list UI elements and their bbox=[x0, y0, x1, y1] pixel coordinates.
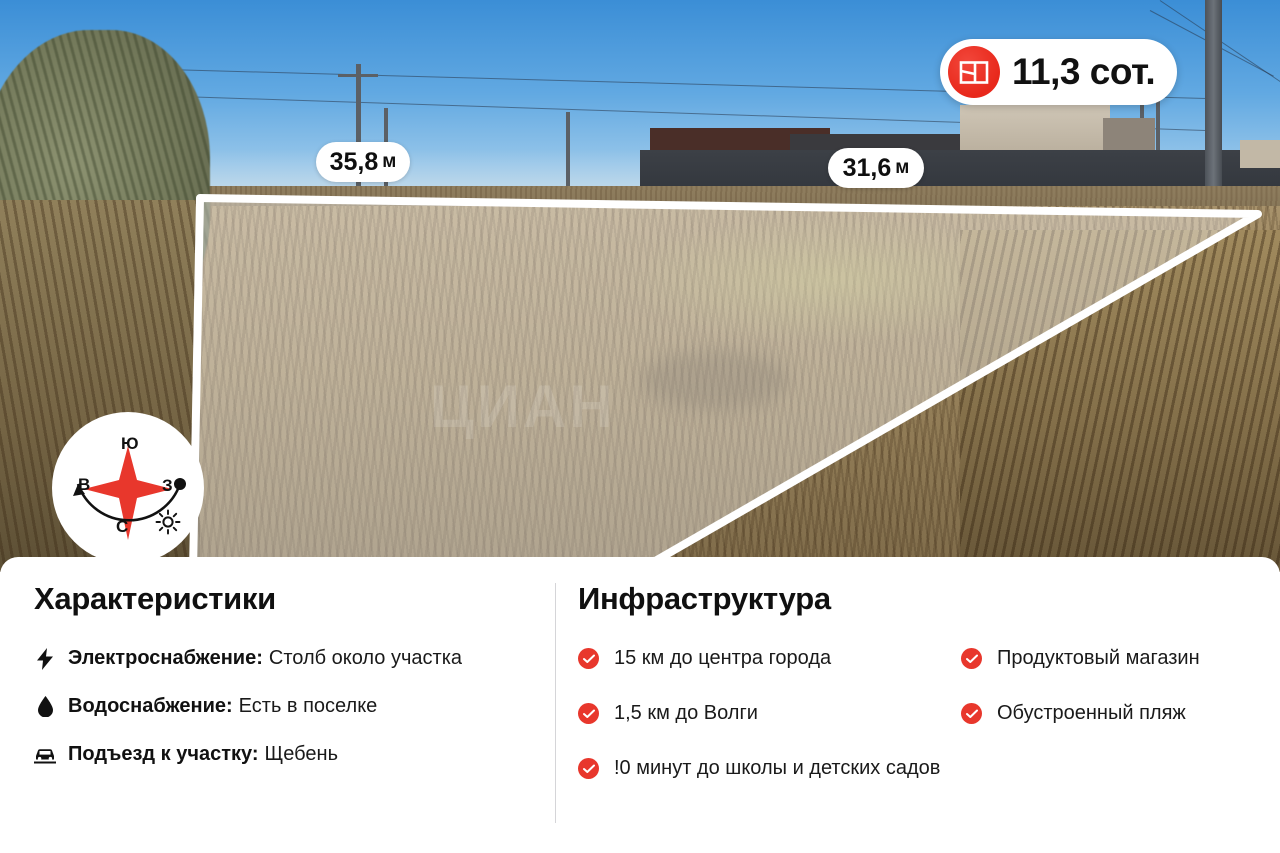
measurement-value: 31,6 bbox=[843, 154, 892, 183]
plot-area-badge: 11,3 сот. bbox=[940, 39, 1177, 105]
infra-label: Обустроенный пляж bbox=[997, 702, 1186, 725]
infra-item: !0 минут до школы и детских садов bbox=[578, 757, 940, 780]
spec-value: Есть в поселке bbox=[239, 695, 378, 717]
spec-value: Щебень bbox=[265, 743, 338, 765]
spec-value: Столб около участка bbox=[269, 647, 462, 669]
plot-polygon bbox=[193, 198, 1258, 572]
check-circle-icon bbox=[961, 703, 982, 724]
listing-card: ЦИАН 11,3 сот. 35,8 м 31,6 м bbox=[0, 0, 1280, 853]
spec-row-water: Водоснабжение:Есть в поселке bbox=[34, 695, 539, 718]
infra-label: !0 минут до школы и детских садов bbox=[614, 757, 940, 780]
column-divider bbox=[555, 583, 556, 823]
spec-row-access: Подъезд к участку:Щебень bbox=[34, 743, 539, 766]
measurement-unit: м bbox=[895, 157, 909, 179]
spec-label: Водоснабжение: bbox=[68, 695, 233, 717]
measurement-pill-right: 31,6 м bbox=[828, 148, 924, 188]
plot-area-value: 11,3 сот. bbox=[1012, 51, 1155, 93]
infra-label: Продуктовый магазин bbox=[997, 647, 1200, 670]
measurement-pill-top: 35,8 м bbox=[316, 142, 410, 182]
infra-item: 15 км до центра города bbox=[578, 647, 831, 670]
infra-label: 15 км до центра города bbox=[614, 647, 831, 670]
car-road-icon bbox=[34, 746, 56, 764]
spec-label: Электроснабжение: bbox=[68, 647, 263, 669]
measurement-unit: м bbox=[382, 151, 396, 173]
measurement-value: 35,8 bbox=[330, 148, 379, 177]
characteristics-title: Характеристики bbox=[34, 581, 539, 617]
plot-photo[interactable]: ЦИАН 11,3 сот. 35,8 м 31,6 м bbox=[0, 0, 1280, 572]
check-circle-icon bbox=[961, 648, 982, 669]
compass-label-north: Ю bbox=[121, 434, 139, 454]
lightning-bolt-icon bbox=[34, 648, 56, 670]
characteristics-section: Характеристики Электроснабжение:Столб ок… bbox=[34, 581, 539, 791]
infrastructure-list: 15 км до центра города Продуктовый магаз… bbox=[578, 647, 1268, 817]
compass-label-south: С bbox=[116, 517, 128, 537]
check-circle-icon bbox=[578, 648, 599, 669]
infrastructure-title: Инфраструктура bbox=[578, 581, 1268, 617]
infra-item: Обустроенный пляж bbox=[961, 702, 1186, 725]
check-circle-icon bbox=[578, 758, 599, 779]
check-circle-icon bbox=[578, 703, 599, 724]
infrastructure-section: Инфраструктура 15 км до центра города Пр… bbox=[578, 581, 1268, 817]
compass-rose: Ю В З С bbox=[52, 412, 204, 564]
info-panel: Характеристики Электроснабжение:Столб ок… bbox=[0, 557, 1280, 853]
sun-position-dot bbox=[174, 478, 186, 490]
spec-label: Подъезд к участку: bbox=[68, 743, 259, 765]
compass-label-east: З bbox=[162, 476, 173, 496]
compass-label-west: В bbox=[78, 475, 90, 495]
water-drop-icon bbox=[34, 696, 56, 717]
land-plot-icon bbox=[948, 46, 1000, 98]
infra-item: 1,5 км до Волги bbox=[578, 702, 758, 725]
infra-label: 1,5 км до Волги bbox=[614, 702, 758, 725]
infra-item: Продуктовый магазин bbox=[961, 647, 1200, 670]
spec-row-electricity: Электроснабжение:Столб около участка bbox=[34, 647, 539, 670]
